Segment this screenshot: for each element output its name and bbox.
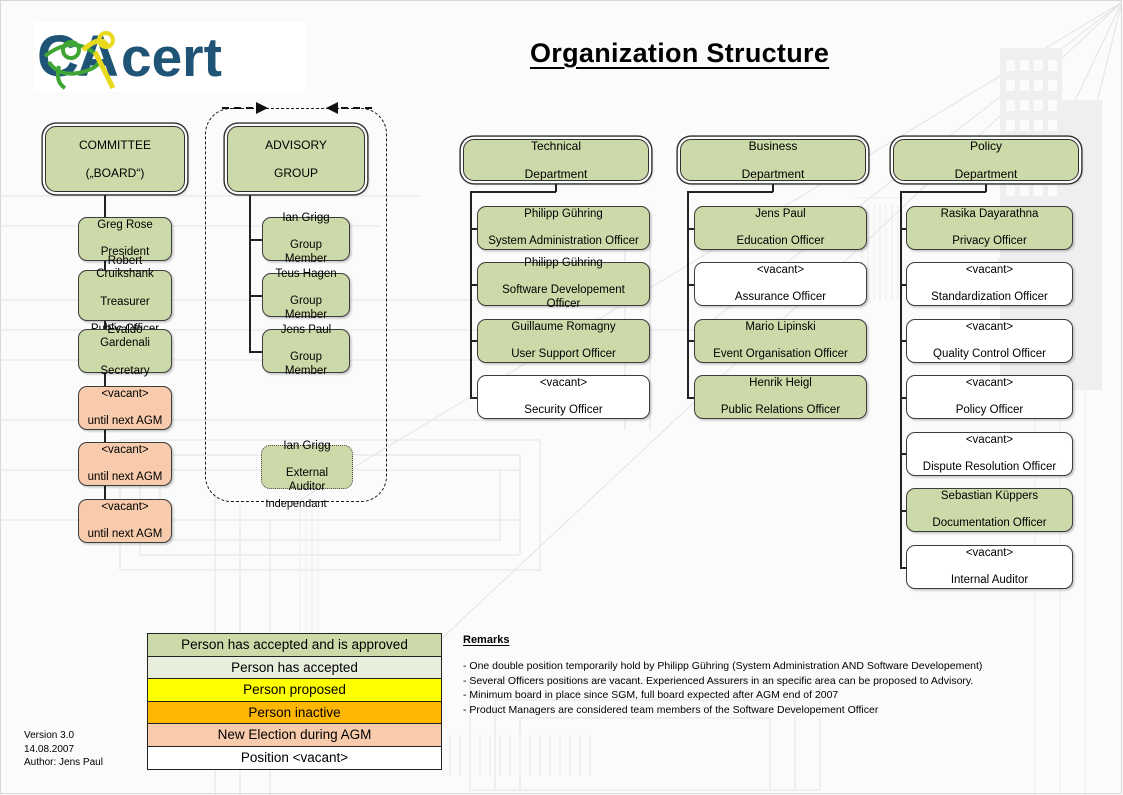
member-name: <vacant> <box>84 388 167 402</box>
legend-row: Person has accepted and is approved <box>148 634 441 657</box>
department-officer[interactable]: Philipp GühringSoftware Developement Off… <box>477 262 650 306</box>
member-role: Treasurer <box>83 296 167 310</box>
remark-item: - Several Officers positions are vacant.… <box>463 674 1023 689</box>
version-number: Version 3.0 <box>24 729 103 743</box>
committee-member[interactable]: Robert CruikshankTreasurerPublic Officer <box>78 270 172 321</box>
officer-name: <vacant> <box>952 377 1028 391</box>
department-officer[interactable]: Philipp GühringSystem Administration Off… <box>477 206 650 250</box>
officer-name: Philipp Gühring <box>482 257 645 271</box>
member-role: until next AGM <box>84 415 167 429</box>
dept-line2: Department <box>951 167 1022 181</box>
advisory-header-line1: ADVISORY <box>261 138 331 152</box>
officer-name: <vacant> <box>947 547 1032 561</box>
committee-member[interactable]: Evaldo GardenaliSecretary <box>78 329 172 373</box>
department-officer-vacant[interactable]: <vacant>Assurance Officer <box>694 262 867 306</box>
member-name: Robert Cruikshank <box>83 255 167 282</box>
legend-row: Person inactive <box>148 702 441 725</box>
legend-row: Position <vacant> <box>148 747 441 770</box>
officer-name: Henrik Heigl <box>717 377 844 391</box>
department-officer-vacant[interactable]: <vacant>Dispute Resolution Officer <box>906 432 1073 476</box>
remark-item: - Minimum board in place since SGM, full… <box>463 688 1023 703</box>
advisory-arrows <box>200 100 395 124</box>
biz-trunk <box>687 191 689 397</box>
advisory-member[interactable]: Jens PaulGroup Member <box>262 329 350 373</box>
officer-role: Assurance Officer <box>731 291 830 305</box>
officer-name: <vacant> <box>927 264 1052 278</box>
member-role: External Auditor <box>266 467 348 494</box>
officer-role: Dispute Resolution Officer <box>919 461 1060 475</box>
officer-role: User Support Officer <box>507 348 620 362</box>
department-header-policy[interactable]: PolicyDepartment <box>893 139 1079 181</box>
member-role: until next AGM <box>84 471 167 485</box>
department-officer[interactable]: Henrik HeiglPublic Relations Officer <box>694 375 867 419</box>
member-name: <vacant> <box>84 444 167 458</box>
member-role: Group Member <box>267 351 345 378</box>
slide-canvas: C A cert Organization Structure Independ… <box>0 0 1123 795</box>
officer-name: Philipp Gühring <box>484 208 643 222</box>
committee-member-vacant[interactable]: <vacant>until next AGM <box>78 442 172 486</box>
department-officer-vacant[interactable]: <vacant>Security Officer <box>477 375 650 419</box>
department-officer[interactable]: Jens PaulEducation Officer <box>694 206 867 250</box>
department-officer-vacant[interactable]: <vacant>Quality Control Officer <box>906 319 1073 363</box>
officer-role: Standardization Officer <box>927 291 1052 305</box>
officer-name: <vacant> <box>731 264 830 278</box>
member-name: <vacant> <box>84 501 167 515</box>
member-role: Group Member <box>267 239 345 266</box>
department-officer-vacant[interactable]: <vacant>Standardization Officer <box>906 262 1073 306</box>
department-header-technical[interactable]: TechnicalDepartment <box>463 139 649 181</box>
officer-role: Policy Officer <box>952 404 1028 418</box>
member-name: Teus Hagen <box>267 268 345 282</box>
committee-header-line1: COMMITTEE <box>75 138 155 152</box>
officer-role: System Administration Officer <box>484 235 643 249</box>
member-name: Ian Grigg <box>266 440 348 454</box>
advisory-member[interactable]: Ian GriggGroup Member <box>262 217 350 261</box>
committee-member-vacant[interactable]: <vacant>until next AGM <box>78 499 172 543</box>
officer-name: <vacant> <box>929 321 1050 335</box>
legend-row: New Election during AGM <box>148 724 441 747</box>
committee-header-line2: („BOARD“) <box>75 166 155 180</box>
tech-trunk <box>470 191 472 397</box>
officer-name: Rasika Dayarathna <box>937 208 1043 222</box>
legend-row: Person has accepted <box>148 657 441 680</box>
remark-item: - Product Managers are considered team m… <box>463 703 1023 718</box>
officer-role: Event Organisation Officer <box>709 348 852 362</box>
dept-line1: Technical <box>521 139 592 153</box>
department-officer-vacant[interactable]: <vacant>Policy Officer <box>906 375 1073 419</box>
officer-name: Sebastian Küppers <box>928 490 1050 504</box>
dept-line1: Business <box>738 139 809 153</box>
officer-role: Documentation Officer <box>928 517 1050 531</box>
version-info: Version 3.0 14.08.2007 Author: Jens Paul <box>24 729 103 770</box>
member-name: Ian Grigg <box>267 212 345 226</box>
external-auditor[interactable]: Ian GriggExternal Auditor <box>261 445 353 489</box>
department-officer[interactable]: Rasika DayarathnaPrivacy Officer <box>906 206 1073 250</box>
version-author: Author: Jens Paul <box>24 756 103 770</box>
advisory-trunk <box>249 192 251 352</box>
dept-line2: Department <box>521 167 592 181</box>
advisory-header-line2: GROUP <box>261 166 331 180</box>
member-role: Secretary <box>83 365 167 379</box>
member-name: Jens Paul <box>267 324 345 338</box>
department-officer[interactable]: Guillaume RomagnyUser Support Officer <box>477 319 650 363</box>
member-name: Greg Rose <box>93 219 157 233</box>
officer-role: Internal Auditor <box>947 574 1032 588</box>
committee-member-vacant[interactable]: <vacant>until next AGM <box>78 386 172 430</box>
page-title: Organization Structure <box>530 38 829 69</box>
legend: Person has accepted and is approved Pers… <box>147 633 442 770</box>
advisory-enclosure-label: Independant <box>205 498 387 510</box>
officer-role: Privacy Officer <box>937 235 1043 249</box>
tech-cross <box>470 191 556 193</box>
remarks-title: Remarks <box>463 634 1023 646</box>
officer-role: Public Relations Officer <box>717 404 844 418</box>
remark-item: - One double position temporarily hold b… <box>463 659 1023 674</box>
biz-cross <box>687 191 773 193</box>
advisory-member[interactable]: Teus HagenGroup Member <box>262 273 350 317</box>
department-officer[interactable]: Sebastian KüppersDocumentation Officer <box>906 488 1073 532</box>
department-officer-vacant[interactable]: <vacant>Internal Auditor <box>906 545 1073 589</box>
member-role: Group Member <box>267 295 345 322</box>
officer-role: Education Officer <box>732 235 828 249</box>
officer-name: <vacant> <box>919 434 1060 448</box>
remarks-block: Remarks - One double position temporaril… <box>463 634 1023 717</box>
remarks-list: - One double position temporarily hold b… <box>463 659 1023 717</box>
committee-header[interactable]: COMMITTEE („BOARD“) <box>45 126 185 192</box>
officer-name: Jens Paul <box>732 208 828 222</box>
officer-name: <vacant> <box>520 377 606 391</box>
svg-text:cert: cert <box>121 26 222 88</box>
advisory-header[interactable]: ADVISORY GROUP <box>227 126 365 192</box>
dept-line1: Policy <box>951 139 1022 153</box>
department-header-business[interactable]: BusinessDepartment <box>680 139 866 181</box>
dept-line2: Department <box>738 167 809 181</box>
officer-name: Guillaume Romagny <box>507 321 620 335</box>
version-date: 14.08.2007 <box>24 743 103 757</box>
officer-role: Security Officer <box>520 404 606 418</box>
cacert-logo: C A cert <box>33 22 305 92</box>
officer-name: Mario Lipinski <box>709 321 852 335</box>
department-officer[interactable]: Mario LipinskiEvent Organisation Officer <box>694 319 867 363</box>
policy-cross <box>900 191 986 193</box>
officer-role: Quality Control Officer <box>929 348 1050 362</box>
legend-row: Person proposed <box>148 679 441 702</box>
officer-role: Software Developement Officer <box>482 284 645 311</box>
member-name: Evaldo Gardenali <box>83 324 167 351</box>
member-role: until next AGM <box>84 528 167 542</box>
